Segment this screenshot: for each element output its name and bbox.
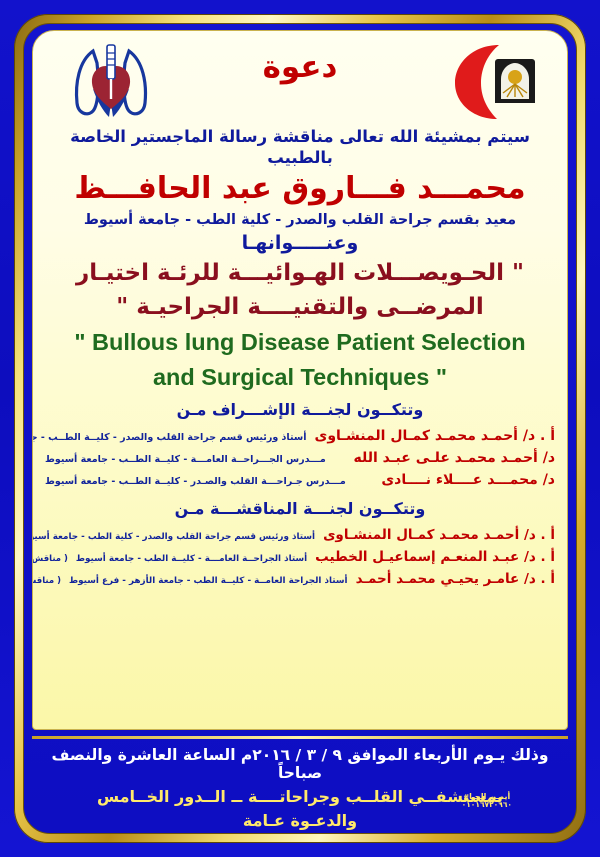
committee-member-row: د/ أحمـد محمـد علـى عبـد الله مـــدرس ال…: [45, 447, 555, 469]
thesis-title-label: وعنـــــوانهـا: [33, 232, 567, 254]
member-title: أستاذ ورئيس قسم جراحة القلب والصدر - كلي…: [32, 432, 306, 443]
student-name: محمـــد فـــاروق عبد الحافـــظ: [33, 172, 567, 207]
page-title: دعوة: [33, 49, 567, 85]
member-title: مـــدرس جـراحـــة القلب والصـدر - كليــة…: [45, 476, 373, 487]
thesis-title-arabic-line1: " الحـويصـــلات الهـوائيـــة للرئـة اختي…: [47, 258, 553, 288]
committee-member-row: أ . د/ أحمـد محمـد كمـال المنشـاوى أستاذ…: [45, 524, 555, 546]
supervision-committee-list: أ . د/ أحمـد محمـد كمـال المنشـاوى أستاذ…: [45, 425, 555, 491]
member-role: ( مناقش داخلى ): [32, 554, 68, 564]
member-title: مـــدرس الجـــراحــة العامـــة - كليــة …: [45, 454, 346, 465]
designer-phone: ٠١٠١٦٧٢٠٦٦٠: [462, 801, 512, 810]
footer-divider: [32, 736, 568, 739]
thesis-title-english-line1: " Bullous lung Disease Patient Selection: [43, 328, 557, 357]
intro-statement: سيتم بمشيئة الله تعالى مناقشة رسالة الما…: [43, 127, 557, 168]
discussion-committee-heading: وتتكــون لجنـــة المناقشـــة مـن: [33, 499, 567, 518]
member-role: ( مناقش خارجى ): [32, 576, 61, 586]
poster-header: دعوة: [33, 31, 567, 127]
invitation-poster: دعوة سيتم بمشيئة الله تعالى مناقشة رسالة…: [0, 0, 600, 857]
designer-credit: أيمـن الحـاج ٠١٠١٦٧٢٠٦٦٠: [462, 792, 512, 810]
thesis-title-english-line2: and Surgical Techniques ": [43, 363, 557, 392]
committee-member-row: أ . د/ عامـر يحيـي محمـد أحمـد أستاذ الج…: [45, 568, 555, 590]
member-title: أستاذ الجراحة العامــة - كليــة الطب - ج…: [69, 576, 348, 586]
public-invitation-notice: والدعـوة عـامة: [32, 811, 568, 830]
committee-member-row: د/ محمـــد عــــلاء نــــادى مـــدرس جـر…: [45, 469, 555, 491]
discussion-committee-list: أ . د/ أحمـد محمـد كمـال المنشـاوى أستاذ…: [45, 524, 555, 590]
content-panel: دعوة سيتم بمشيئة الله تعالى مناقشة رسالة…: [32, 30, 568, 730]
member-name: أ . د/ أحمـد محمـد كمـال المنشـاوى: [314, 428, 555, 444]
member-title: أستاذ ورئيس قسم جراحة القلب والصدر - كلي…: [32, 532, 315, 542]
member-title: أستاذ الجراحــة العامـــة - كليــة الطب …: [76, 554, 307, 564]
member-name: أ . د/ عبـد المنعـم إسماعيـل الخطيب: [315, 549, 555, 565]
committee-member-row: أ . د/ أحمـد محمـد كمـال المنشـاوى أستاذ…: [45, 425, 555, 447]
member-name: د/ محمـــد عــــلاء نــــادى: [381, 472, 555, 488]
member-name: أ . د/ عامـر يحيـي محمـد أحمـد: [356, 571, 555, 587]
poster-footer: وذلك يـوم الأربعاء الموافق ٩ / ٣ / ٢٠١٦م…: [32, 736, 568, 822]
member-name: د/ أحمـد محمـد علـى عبـد الله: [354, 450, 555, 466]
student-affiliation: معيد بقسم جراحة القلب والصدر - كلية الطب…: [33, 212, 567, 228]
thesis-title-arabic-line2: المرضــى والتقنيــــة الجراحيـة ": [47, 292, 553, 322]
event-datetime: وذلك يـوم الأربعاء الموافق ٩ / ٣ / ٢٠١٦م…: [32, 746, 568, 782]
committee-member-row: أ . د/ عبـد المنعـم إسماعيـل الخطيب أستا…: [45, 546, 555, 568]
member-name: أ . د/ أحمـد محمـد كمـال المنشـاوى: [323, 527, 555, 543]
supervision-committee-heading: وتتكــون لجنـــة الإشـــراف مـن: [33, 400, 567, 419]
